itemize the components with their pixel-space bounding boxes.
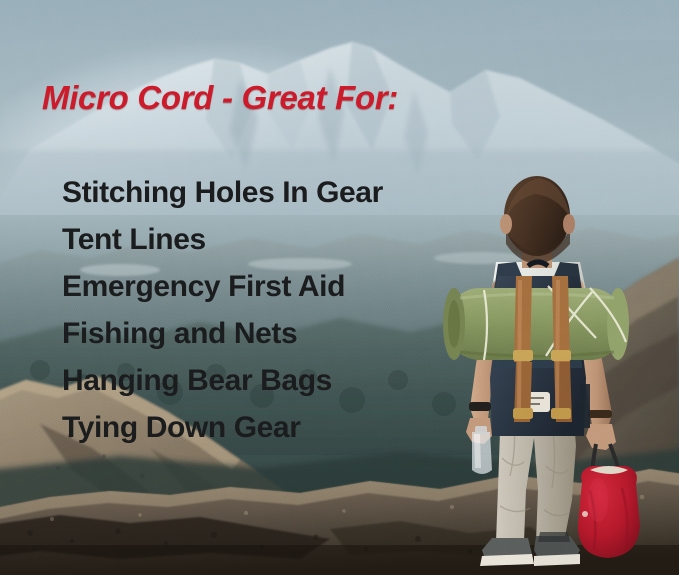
list-item: Emergency First Aid xyxy=(62,263,383,310)
list-item: Tent Lines xyxy=(62,216,383,263)
pack-buckle-right-lower xyxy=(551,408,571,419)
hiker-figure xyxy=(440,170,679,575)
pack-buckle-left-upper xyxy=(513,350,533,361)
use-case-list: Stitching Holes In Gear Tent Lines Emerg… xyxy=(62,169,383,451)
list-item: Fishing and Nets xyxy=(62,310,383,357)
list-item: Stitching Holes In Gear xyxy=(62,169,383,216)
pack-buckle-left-lower xyxy=(513,408,533,419)
pack-buckle-right-upper xyxy=(551,350,571,361)
water-bottle xyxy=(472,426,492,474)
hiker-bracelet xyxy=(588,410,612,418)
rolled-sleeping-mat xyxy=(443,288,629,360)
poster-title: Micro Cord - Great For: xyxy=(42,79,398,117)
poster-image: Micro Cord - Great For: Stitching Holes … xyxy=(0,0,679,575)
hiker-watch xyxy=(469,402,491,411)
list-item: Hanging Bear Bags xyxy=(62,357,383,404)
list-item: Tying Down Gear xyxy=(62,404,383,451)
red-stuff-sack xyxy=(578,466,640,558)
